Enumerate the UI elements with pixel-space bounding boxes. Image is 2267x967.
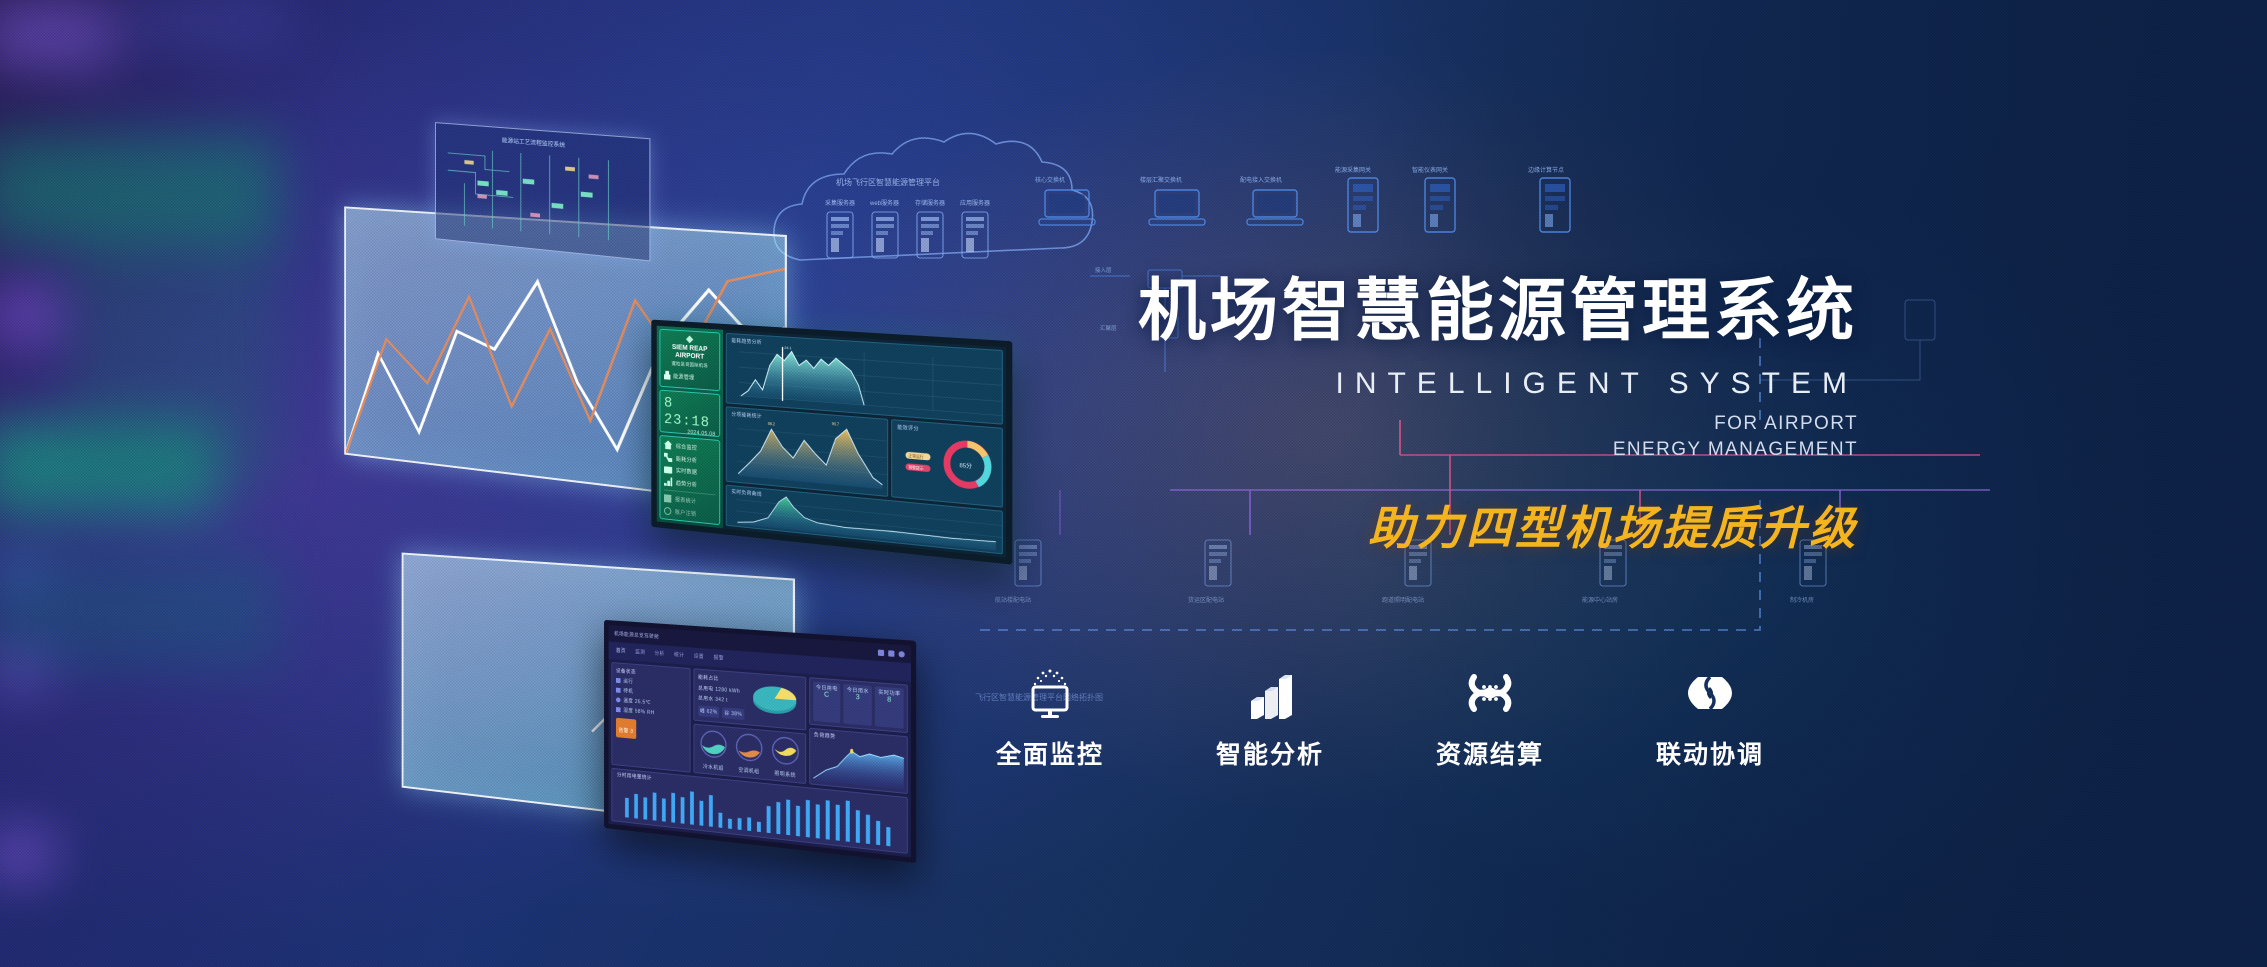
grain-overlay <box>0 0 2267 967</box>
banner-root: 机场飞行区智慧能源管理平台 采集服务器 web服务器 存储服务器 应用服务器 核… <box>0 0 2267 967</box>
